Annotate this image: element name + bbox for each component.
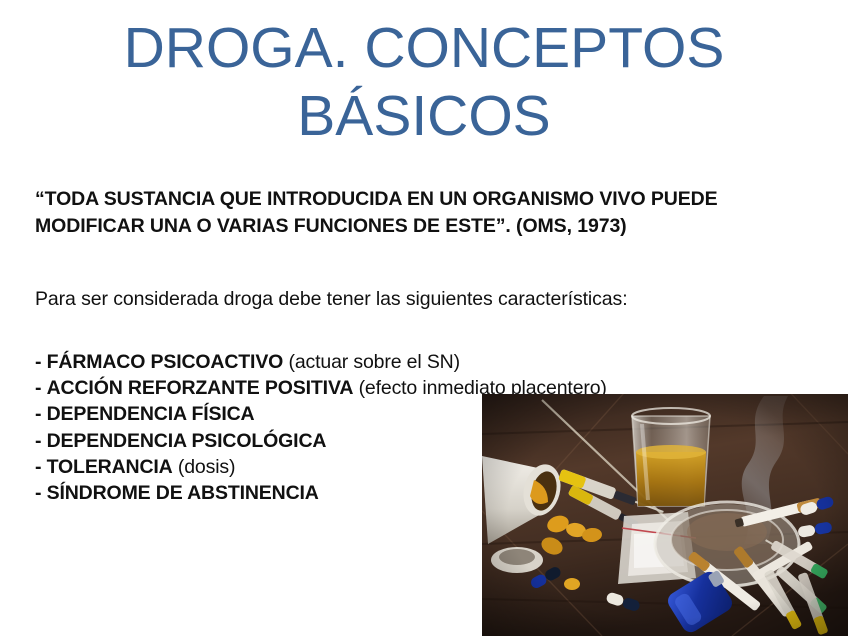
bullet-label: SÍNDROME DE ABSTINENCIA	[47, 482, 319, 504]
drugs-still-life-photo	[482, 394, 848, 636]
bullet-label: ACCIÓN REFORZANTE POSITIVA	[47, 377, 354, 399]
bullet-dash: -	[35, 430, 41, 452]
photo-illustration	[482, 394, 848, 636]
bullet-label: FÁRMACO PSICOACTIVO	[47, 351, 284, 373]
page-title: DROGA. CONCEPTOS BÁSICOS	[0, 14, 848, 150]
intro-paragraph: Para ser considerada droga debe tener la…	[35, 240, 735, 313]
bullet-dash: -	[35, 482, 41, 504]
bullet-dash: -	[35, 456, 41, 478]
bullet-dash: -	[35, 377, 41, 399]
list-item: - FÁRMACO PSICOACTIVO (actuar sobre el S…	[35, 349, 735, 375]
quote-line-1: “TODA SUSTANCIA QUE INTRODUCIDA EN UN OR…	[35, 188, 718, 210]
photo-vignette	[482, 394, 848, 636]
definition-quote: “TODA SUSTANCIA QUE INTRODUCIDA EN UN OR…	[35, 186, 735, 240]
bullet-label: DEPENDENCIA PSICOLÓGICA	[47, 430, 327, 452]
slide-canvas: DROGA. CONCEPTOS BÁSICOS “TODA SUSTANCIA…	[0, 0, 848, 636]
bullet-note: (actuar sobre el SN)	[283, 351, 460, 373]
bullet-label: TOLERANCIA	[47, 456, 173, 478]
bullet-dash: -	[35, 403, 41, 425]
bullet-label: DEPENDENCIA FÍSICA	[47, 403, 255, 425]
bullet-dash: -	[35, 351, 41, 373]
quote-line-2: MODIFICAR UNA O VARIAS FUNCIONES DE ESTE…	[35, 215, 627, 237]
bullet-note: (dosis)	[173, 456, 236, 478]
